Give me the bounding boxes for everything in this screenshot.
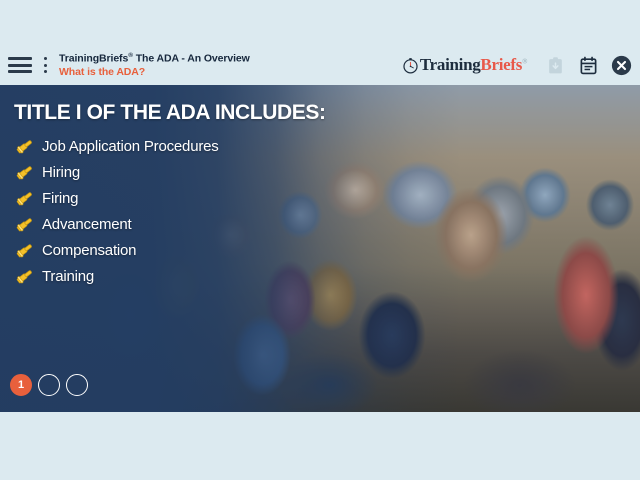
notes-calendar-icon[interactable] [577,54,599,76]
course-title: TrainingBriefs® The ADA - An Overview [59,52,250,65]
calendar-notes-glyph [579,56,598,75]
list-item: Advancement [14,211,344,237]
clipboard-download-glyph [546,56,565,75]
hamburger-line [8,57,32,60]
gavel-icon [14,188,35,209]
stopwatch-icon [402,57,419,74]
slide-pagination: 1 [10,374,88,396]
close-circle-glyph [611,55,632,76]
resources-download-icon [544,54,566,76]
pagination-dot-2[interactable] [38,374,60,396]
list-item: Job Application Procedures [14,133,344,159]
list-item-label: Firing [42,190,78,207]
kebab-dot [44,70,47,73]
player-header: TrainingBriefs® The ADA - An Overview Wh… [0,45,640,85]
list-item-label: Advancement [42,216,132,233]
list-item: Training [14,263,344,289]
gavel-icon [14,162,35,183]
gavel-icon [14,214,35,235]
list-item-label: Compensation [42,242,136,259]
kebab-menu-icon[interactable] [40,57,50,73]
pagination-dot-1[interactable]: 1 [10,374,32,396]
hamburger-menu-icon[interactable] [8,57,32,73]
brand-wordmark: TrainingBriefs® [420,55,527,75]
slide-content: TITLE I OF THE ADA INCLUDES: Job Applica… [14,101,344,289]
list-item: Compensation [14,237,344,263]
trainingbriefs-logo: TrainingBriefs® [402,55,527,75]
slide-bullet-list: Job Application Procedures Hiring [14,133,344,289]
list-item-label: Job Application Procedures [42,138,219,155]
brand-name-training: Training [420,55,481,74]
list-item: Firing [14,185,344,211]
close-icon[interactable] [610,54,632,76]
course-title-rest: The ADA - An Overview [133,52,250,64]
list-item: Hiring [14,159,344,185]
kebab-dot [44,57,47,60]
course-title-brand: TrainingBriefs [59,52,128,64]
pagination-dot-3[interactable] [66,374,88,396]
brand-registered-mark: ® [522,57,527,65]
hamburger-line [8,64,32,67]
header-titles: TrainingBriefs® The ADA - An Overview Wh… [59,52,250,78]
header-actions: TrainingBriefs® [402,45,632,85]
brand-name-briefs: Briefs [480,55,522,74]
slide-stage[interactable]: TITLE I OF THE ADA INCLUDES: Job Applica… [0,85,640,412]
hamburger-line [8,70,32,73]
gavel-icon [14,240,35,261]
course-player: TrainingBriefs® The ADA - An Overview Wh… [0,0,640,480]
list-item-label: Training [42,268,94,285]
slide-heading: TITLE I OF THE ADA INCLUDES: [14,101,344,125]
lesson-title[interactable]: What is the ADA? [59,67,250,78]
kebab-dot [44,64,47,67]
list-item-label: Hiring [42,164,80,181]
gavel-icon [14,136,35,157]
gavel-icon [14,266,35,287]
